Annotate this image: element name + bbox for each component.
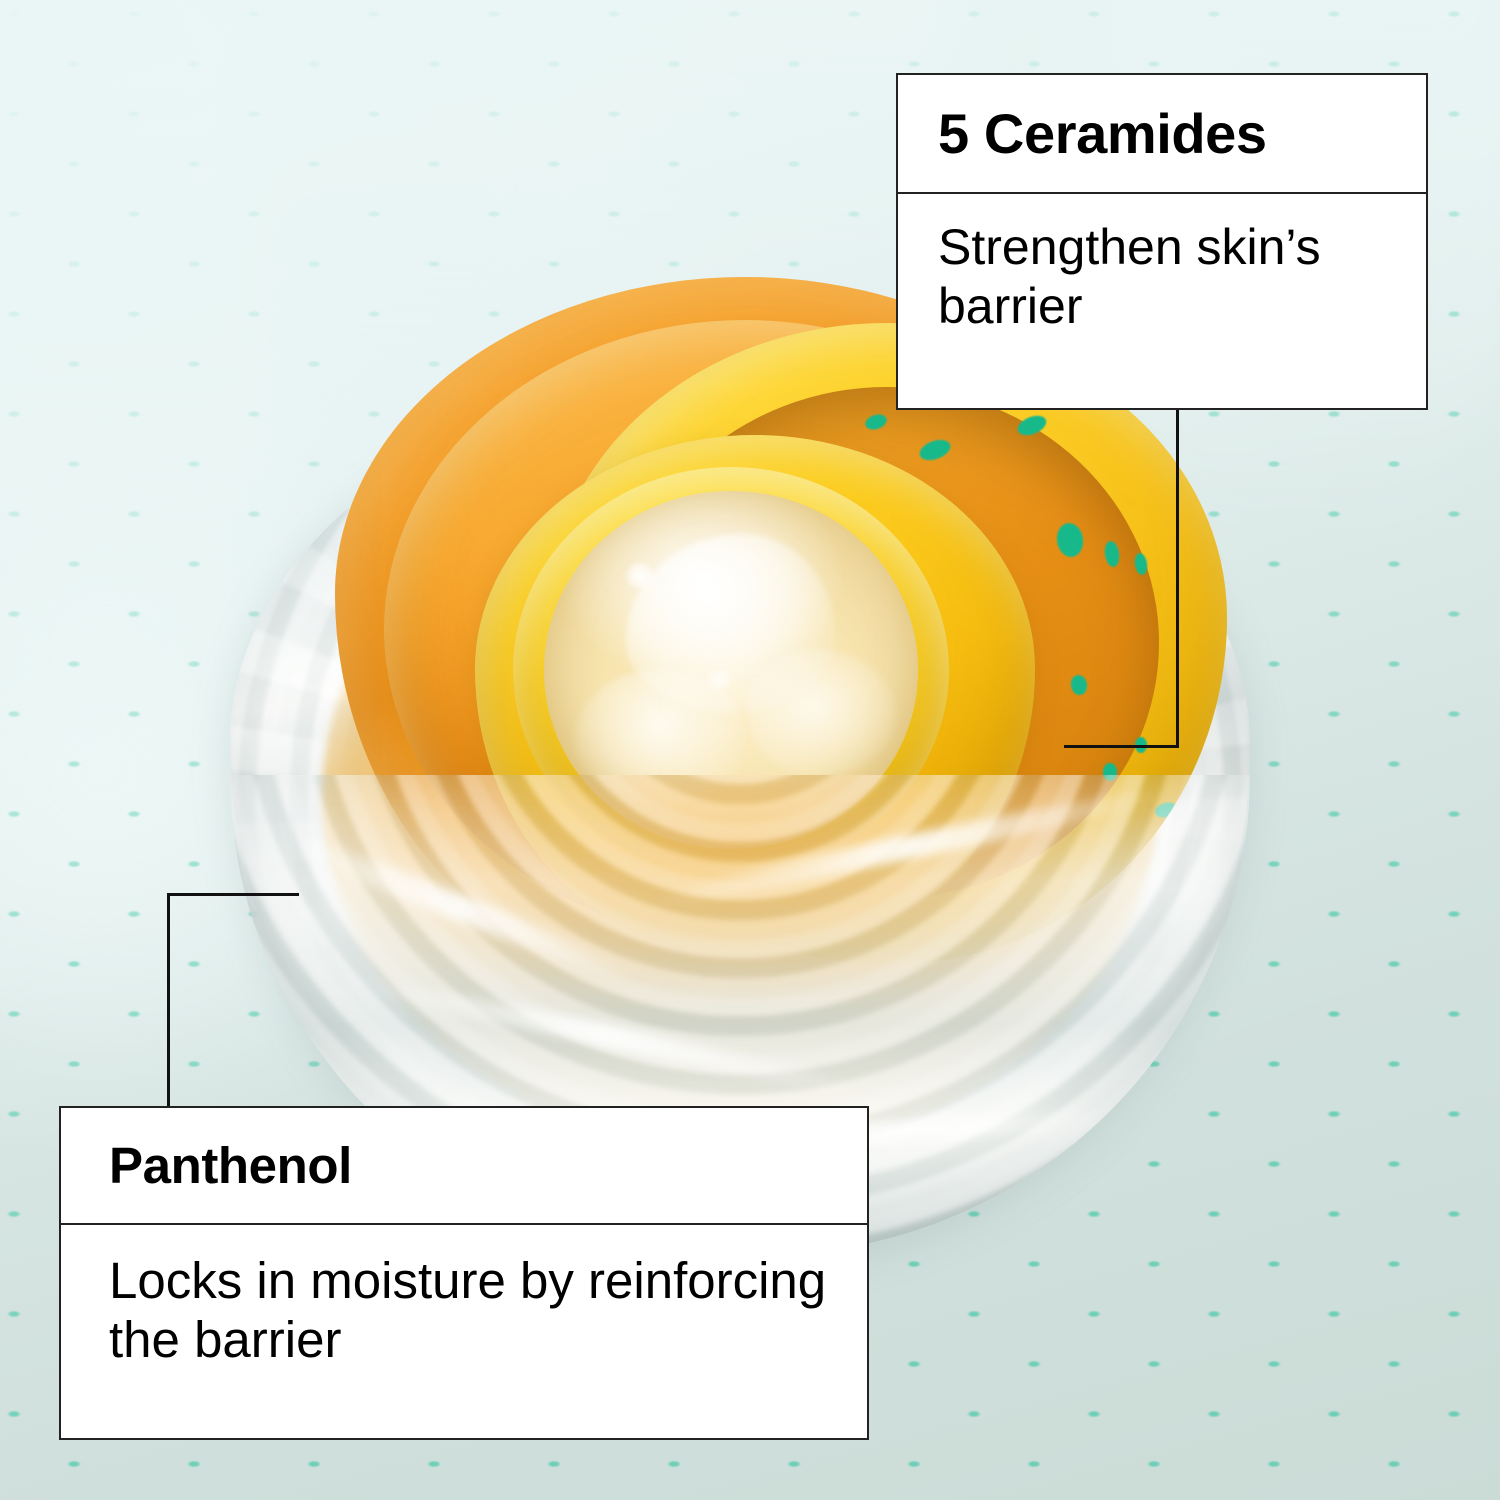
callout-ceramides-body: Strengthen skin’s barrier xyxy=(898,194,1426,336)
infographic-canvas: 5 Ceramides Strengthen skin’s barrier Pa… xyxy=(0,0,1500,1500)
leader-line-segment-vertical xyxy=(167,893,170,1108)
leader-line-segment-horizontal xyxy=(1064,745,1179,748)
leader-line-segment-vertical xyxy=(1176,410,1179,748)
callout-ceramides: 5 Ceramides Strengthen skin’s barrier xyxy=(896,73,1428,410)
callout-panthenol-title: Panthenol xyxy=(61,1108,867,1223)
callout-ceramides-title: 5 Ceramides xyxy=(898,75,1426,192)
callout-panthenol: Panthenol Locks in moisture by reinforci… xyxy=(59,1106,869,1440)
leader-line-segment-horizontal xyxy=(167,893,299,896)
gel-highlight xyxy=(746,649,896,778)
callout-panthenol-body: Locks in moisture by reinforcing the bar… xyxy=(61,1225,867,1369)
gel-specular-dot xyxy=(626,563,654,589)
